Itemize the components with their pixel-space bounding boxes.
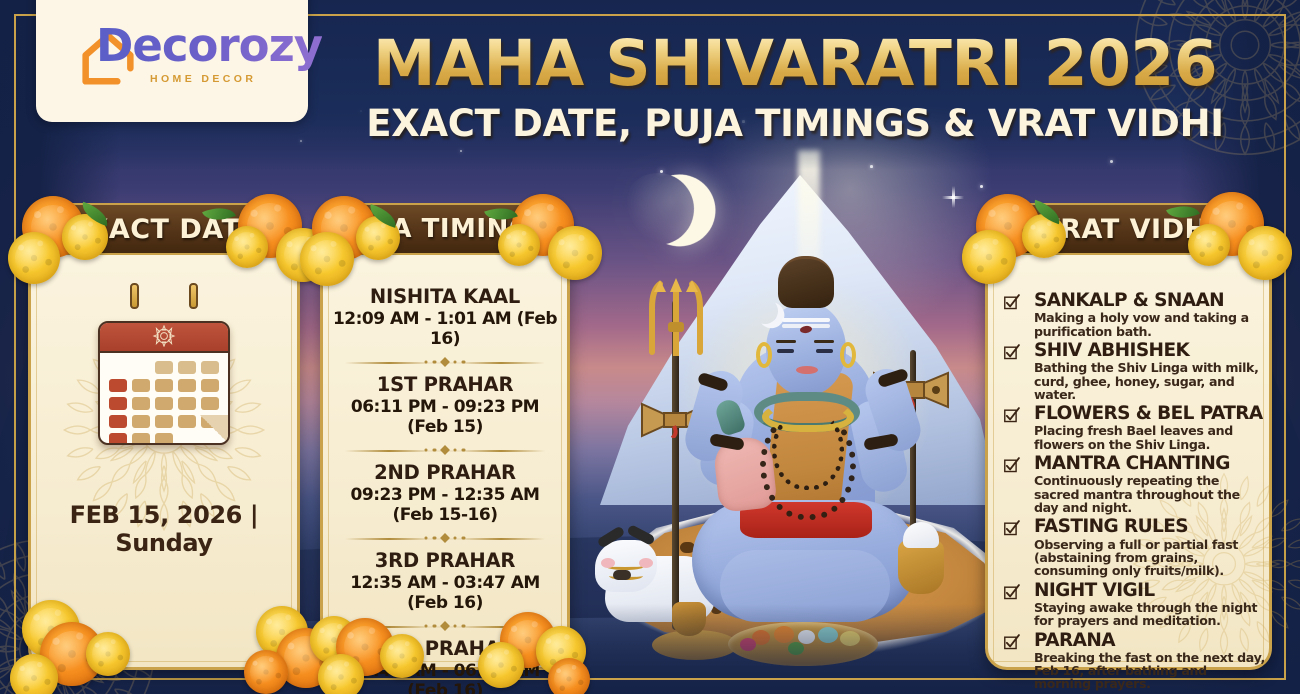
marigold-flower-icon — [548, 226, 602, 280]
puja-timing-value: 06:11 PM - 09:23 PM (Feb 15) — [329, 397, 561, 437]
checkbox-checked-icon — [1003, 634, 1020, 651]
puja-timing-name: 3RD PRAHAR — [329, 549, 561, 572]
marigold-flower-icon — [380, 634, 424, 678]
puja-timing-item: 3RD PRAHAR12:35 AM - 03:47 AM (Feb 16) — [329, 549, 561, 613]
vrat-vidhi-description: Staying awake through the night for pray… — [1034, 601, 1266, 628]
checkbox-checked-icon — [1003, 407, 1020, 424]
earring-right — [840, 342, 856, 368]
hair-bun — [778, 256, 834, 308]
marigold-flower-icon — [498, 224, 540, 266]
marigold-flower-icon — [244, 650, 288, 694]
vrat-vidhi-item: SHIV ABHISHEKBathing the Shiv Linga with… — [1000, 341, 1266, 401]
vrat-vidhi-description: Observing a full or partial fast (abstai… — [1034, 538, 1266, 578]
puja-timing-name: 2ND PRAHAR — [329, 461, 561, 484]
vrat-vidhi-title: SHIV ABHISHEK — [1034, 341, 1266, 360]
vrat-vidhi-description: Placing fresh Bael leaves and flowers on… — [1034, 424, 1266, 451]
separator — [345, 354, 545, 370]
vrat-vidhi-item: NIGHT VIGILStaying awake through the nig… — [1000, 581, 1266, 628]
panel-vrat-vidhi: VRAT VIDHI SANKALP & SNAANMaking a holy … — [985, 226, 1272, 670]
shiva-illustration — [600, 250, 1010, 694]
puja-timing-item: 1ST PRAHAR06:11 PM - 09:23 PM (Feb 15) — [329, 373, 561, 437]
marigold-flower-icon — [548, 658, 590, 694]
exact-date-value: FEB 15, 2026 | Sunday — [31, 501, 297, 557]
panel-puja-timings: PUJA TIMINGS NISHITA KAAL12:09 AM - 1:01… — [320, 226, 570, 670]
lips — [796, 366, 818, 374]
puja-timing-value: 09:23 PM - 12:35 AM (Feb 15-16) — [329, 485, 561, 525]
marigold-flower-icon — [10, 654, 58, 694]
marigold-flower-icon — [962, 230, 1016, 284]
puja-timing-name: 1ST PRAHAR — [329, 373, 561, 396]
vrat-vidhi-item: PARANABreaking the fast on the next day,… — [1000, 631, 1266, 691]
vrat-vidhi-item: FLOWERS & BEL PATRAPlacing fresh Bael le… — [1000, 404, 1266, 451]
vrat-vidhi-list: SANKALP & SNAANMaking a holy vow and tak… — [1000, 291, 1266, 694]
puja-timing-item: NISHITA KAAL12:09 AM - 1:01 AM (Feb 16) — [329, 285, 561, 349]
separator — [345, 442, 545, 458]
title-block: MAHA SHIVARATRI 2026 EXACT DATE, PUJA TI… — [330, 32, 1260, 145]
vrat-vidhi-description: Breaking the fast on the next day, Feb 1… — [1034, 651, 1266, 691]
brand-name: Decorozy — [96, 19, 322, 72]
vrat-vidhi-title: SANKALP & SNAAN — [1034, 291, 1266, 310]
marigold-flower-icon — [8, 232, 60, 284]
brand-tagline: HOME DECOR — [150, 73, 256, 85]
page-subtitle: EXACT DATE, PUJA TIMINGS & VRAT VIDHI — [330, 102, 1260, 145]
puja-timing-item: 2ND PRAHAR09:23 PM - 12:35 AM (Feb 15-16… — [329, 461, 561, 525]
diya-lamp — [672, 602, 706, 636]
panel-exact-date: EXACT DATE — [28, 226, 300, 670]
checkbox-checked-icon — [1003, 584, 1020, 601]
vrat-vidhi-title: NIGHT VIGIL — [1034, 581, 1266, 600]
checkbox-checked-icon — [1003, 344, 1020, 361]
puja-timing-value: 12:09 AM - 1:01 AM (Feb 16) — [329, 309, 561, 349]
vrat-vidhi-title: MANTRA CHANTING — [1034, 454, 1266, 473]
tripundra-tilak — [782, 318, 830, 322]
trishul-icon — [642, 278, 710, 356]
vrat-vidhi-title: FASTING RULES — [1034, 517, 1266, 536]
puja-timing-name: NISHITA KAAL — [329, 285, 561, 308]
calendar-illustration — [31, 295, 297, 525]
marigold-flower-icon — [478, 642, 524, 688]
marigold-flower-icon — [1188, 224, 1230, 266]
marigold-flower-icon — [226, 226, 268, 268]
vrat-vidhi-item: FASTING RULESObserving a full or partial… — [1000, 517, 1266, 577]
calendar-icon — [98, 321, 230, 445]
poster-root: Decorozy HOME DECOR MAHA SHIVARATRI 2026… — [0, 0, 1300, 694]
brand-logo[interactable]: Decorozy HOME DECOR — [36, 0, 308, 122]
separator — [345, 530, 545, 546]
checkbox-checked-icon — [1003, 294, 1020, 311]
vrat-vidhi-description: Continuously repeating the sacred mantra… — [1034, 474, 1266, 514]
marigold-flower-icon — [300, 232, 354, 286]
vrat-vidhi-title: PARANA — [1034, 631, 1266, 650]
kalash-pot — [898, 540, 944, 594]
vrat-vidhi-item: MANTRA CHANTINGContinuously repeating th… — [1000, 454, 1266, 514]
puja-thali — [728, 622, 878, 666]
marigold-flower-icon — [86, 632, 130, 676]
page-title: MAHA SHIVARATRI 2026 — [330, 32, 1260, 96]
vrat-vidhi-description: Making a holy vow and taking a purificat… — [1034, 311, 1266, 338]
marigold-flower-icon — [318, 654, 364, 694]
marigold-flower-icon — [1238, 226, 1292, 280]
checkbox-checked-icon — [1003, 457, 1020, 474]
vrat-vidhi-item: SANKALP & SNAANMaking a holy vow and tak… — [1000, 291, 1266, 338]
rudraksha-mala-inner — [772, 410, 844, 490]
puja-timing-value: 12:35 AM - 03:47 AM (Feb 16) — [329, 573, 561, 613]
checkbox-checked-icon — [1003, 520, 1020, 537]
earring-left — [756, 342, 772, 368]
vrat-vidhi-description: Bathing the Shiv Linga with milk, curd, … — [1034, 361, 1266, 401]
vrat-vidhi-title: FLOWERS & BEL PATRA — [1034, 404, 1266, 423]
crossed-legs-front — [720, 550, 890, 622]
